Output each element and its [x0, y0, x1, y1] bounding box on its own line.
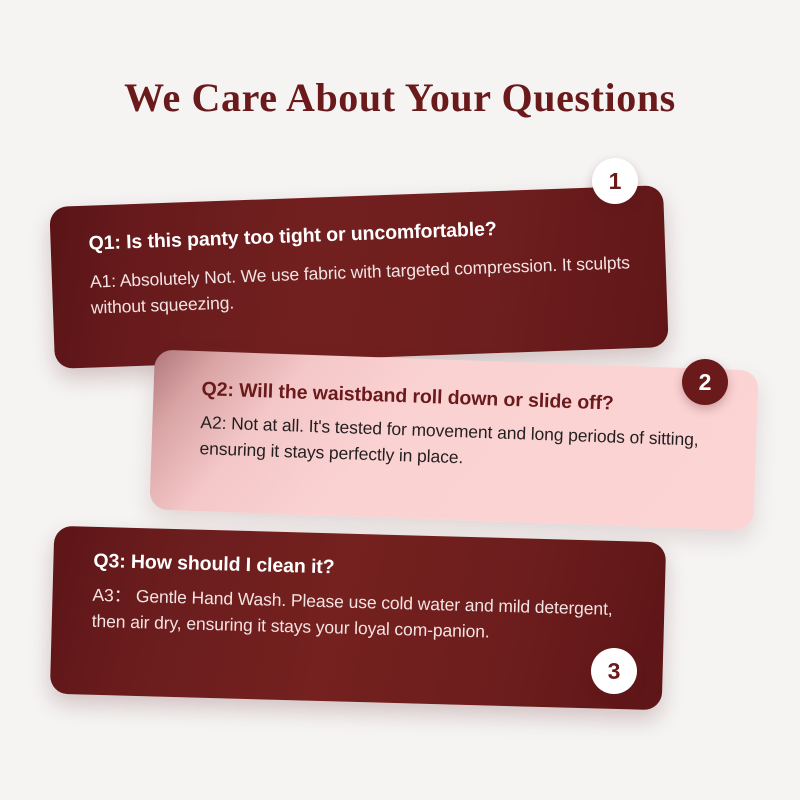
- faq-badge-1: 1: [592, 158, 638, 204]
- faq-badge-2: 2: [682, 359, 728, 405]
- faq-card-1: Q1: Is this panty too tight or uncomfort…: [49, 185, 668, 369]
- faq-answer-2: A2: Not at all. It's tested for movement…: [199, 411, 730, 481]
- faq-question-1: Q1: Is this panty too tight or uncomfort…: [88, 212, 635, 256]
- faq-answer-3: A3： Gentle Hand Wash. Please use cold wa…: [91, 583, 638, 650]
- faq-question-3: Q3: How should I clean it?: [93, 549, 639, 588]
- faq-card-2: Q2: Will the waistband roll down or slid…: [149, 350, 758, 531]
- faq-graphic: We Care About Your Questions Q1: Is this…: [0, 0, 800, 800]
- faq-card-3: Q3: How should I clean it? A3： Gentle Ha…: [50, 526, 666, 710]
- faq-answer-1: A1: Absolutely Not. We use fabric with t…: [90, 250, 638, 321]
- faq-badge-3: 3: [591, 648, 637, 694]
- page-title: We Care About Your Questions: [0, 74, 800, 121]
